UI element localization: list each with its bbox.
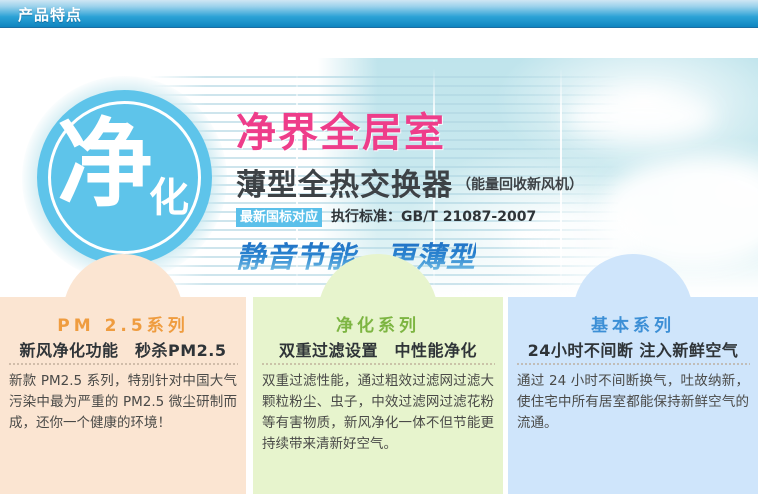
panel-subtitle-3: 24小时不间断 注入新鲜空气 [508, 337, 758, 361]
logo-char-primary: 净 [57, 116, 153, 212]
feature-panels: PM 2.5系列 新风净化功能 秒杀PM2.5 新款 PM2.5 系列，特别针对… [0, 283, 758, 494]
panel-content-2: 净化系列 双重过滤设置 中性能净化 双重过滤性能，通过粗效过滤网过滤大颗粒粉尘、… [253, 297, 503, 494]
logo-char-secondary: 化 [149, 178, 189, 218]
standard-line: 最新国标对应执行标准：GB/T 21087-2007 [236, 208, 536, 228]
panel-divider-1 [8, 363, 238, 365]
product-features-banner: 产品特点 净 化 净界全居室 薄型全热交换器（能量回收新风机） 最新国标对应执行… [0, 0, 758, 494]
page-title: 产品特点 [18, 4, 82, 25]
panel-title-3: 基本系列 [508, 311, 758, 336]
purification-logo-badge: 净 化 [37, 90, 212, 265]
panel-divider-3 [516, 363, 750, 365]
panel-body-3: 通过 24 小时不间断换气，吐故纳新，使住宅中所有居室都能保持新鲜空气的流通。 [517, 371, 749, 434]
feature-panel-basic: 基本系列 24小时不间断 注入新鲜空气 通过 24 小时不间断换气，吐故纳新，使… [508, 297, 758, 494]
panel-body-1: 新款 PM2.5 系列，特别针对中国大气污染中最为严重的 PM2.5 微尘研制而… [9, 371, 237, 434]
panel-body-2: 双重过滤性能，通过粗效过滤网过滤大颗粒粉尘、虫子，中效过滤网过滤花粉等有害物质，… [262, 371, 494, 455]
standard-text: 执行标准：GB/T 21087-2007 [331, 208, 536, 227]
panel-title-1: PM 2.5系列 [0, 311, 246, 336]
hero-subtitle: 薄型全热交换器 [236, 168, 453, 203]
panel-divider-2 [261, 363, 495, 365]
standard-badge: 最新国标对应 [236, 208, 322, 227]
panel-content-1: PM 2.5系列 新风净化功能 秒杀PM2.5 新款 PM2.5 系列，特别针对… [0, 297, 246, 494]
panel-subtitle-1: 新风净化功能 秒杀PM2.5 [0, 337, 246, 361]
panel-title-2: 净化系列 [253, 311, 503, 336]
panel-subtitle-2: 双重过滤设置 中性能净化 [253, 337, 503, 361]
hero-subtitle-line: 薄型全热交换器（能量回收新风机） [236, 168, 583, 203]
feature-panel-purification: 净化系列 双重过滤设置 中性能净化 双重过滤性能，通过粗效过滤网过滤大颗粒粉尘、… [253, 297, 503, 494]
hero-subtitle-paren: （能量回收新风机） [457, 177, 583, 193]
feature-panel-pm25: PM 2.5系列 新风净化功能 秒杀PM2.5 新款 PM2.5 系列，特别针对… [0, 297, 246, 494]
panel-content-3: 基本系列 24小时不间断 注入新鲜空气 通过 24 小时不间断换气，吐故纳新，使… [508, 297, 758, 494]
hero-title: 净界全居室 [236, 111, 446, 155]
section-header-bar: 产品特点 [0, 0, 758, 28]
